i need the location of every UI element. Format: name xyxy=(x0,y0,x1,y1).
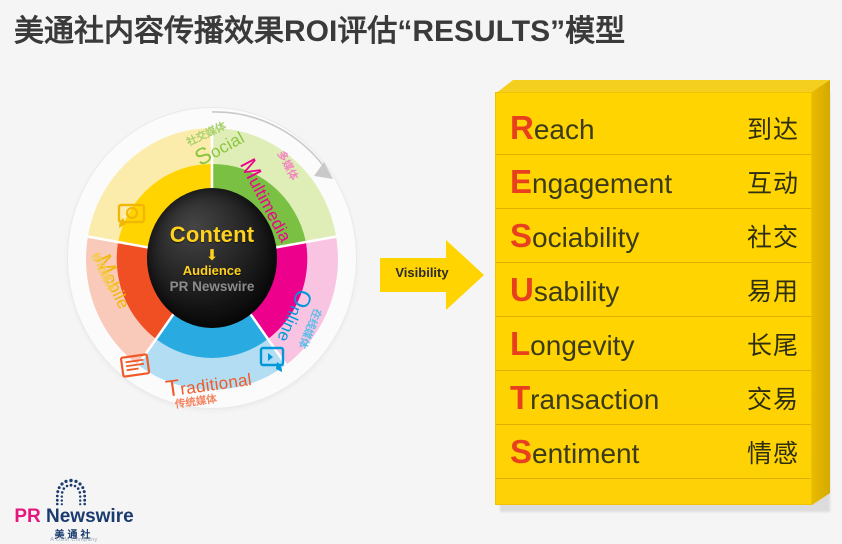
results-row-transaction[interactable]: Transaction 交易 xyxy=(496,371,811,425)
pr-newswire-logo: PR Newswire 美通社 A UBM Company xyxy=(10,478,136,540)
results-row-reach[interactable]: Reach 到达 xyxy=(496,101,811,155)
core-audience-label: Audience xyxy=(183,263,242,278)
content-distribution-wheel: Social 社交媒体 Multimedia 多媒体 Online 在线媒体 T… xyxy=(62,100,362,420)
results-term: Transaction xyxy=(510,381,747,414)
results-panel-footer xyxy=(496,479,811,507)
results-term-cn: 易用 xyxy=(747,272,799,308)
results-row-longevity[interactable]: Longevity 长尾 xyxy=(496,317,811,371)
results-row-engagement[interactable]: Engagement 互动 xyxy=(496,155,811,209)
results-term: Reach xyxy=(510,111,747,144)
results-term-cn: 到达 xyxy=(747,110,799,146)
results-term: Engagement xyxy=(510,165,747,198)
results-row-sentiment[interactable]: Sentiment 情感 xyxy=(496,425,811,479)
page-title: 美通社内容传播效果ROI评估“RESULTS”模型 xyxy=(14,8,834,58)
down-arrow-icon: ⬇ xyxy=(206,249,219,262)
results-term-cn: 交易 xyxy=(747,380,799,416)
results-row-sociability[interactable]: Sociability 社交 xyxy=(496,209,811,263)
core-brand-label: PR Newswire xyxy=(170,279,255,294)
results-panel-side-bevel xyxy=(812,80,830,505)
results-term-cn: 社交 xyxy=(747,218,799,254)
visibility-label: Visibility xyxy=(386,265,458,280)
results-term-cn: 情感 xyxy=(747,434,799,470)
results-term-cn: 长尾 xyxy=(747,326,799,362)
results-term: Longevity xyxy=(510,327,747,360)
laurel-arch-icon xyxy=(54,478,88,506)
results-term-cn: 互动 xyxy=(747,164,799,200)
core-content-label: Content xyxy=(170,222,255,248)
slide-canvas: 美通社内容传播效果ROI评估“RESULTS”模型 xyxy=(0,0,842,544)
wheel-core: Content ⬇ Audience PR Newswire xyxy=(147,188,277,328)
results-row-usability[interactable]: Usability 易用 xyxy=(496,263,811,317)
results-term: Sentiment xyxy=(510,435,747,468)
logo-wordmark: PR Newswire xyxy=(12,506,136,528)
results-term: Usability xyxy=(510,273,747,306)
results-panel: Reach 到达 Engagement 互动 Sociability 社交 Us… xyxy=(495,92,812,505)
logo-subtitle: A UBM Company xyxy=(12,537,136,543)
results-term: Sociability xyxy=(510,219,747,252)
